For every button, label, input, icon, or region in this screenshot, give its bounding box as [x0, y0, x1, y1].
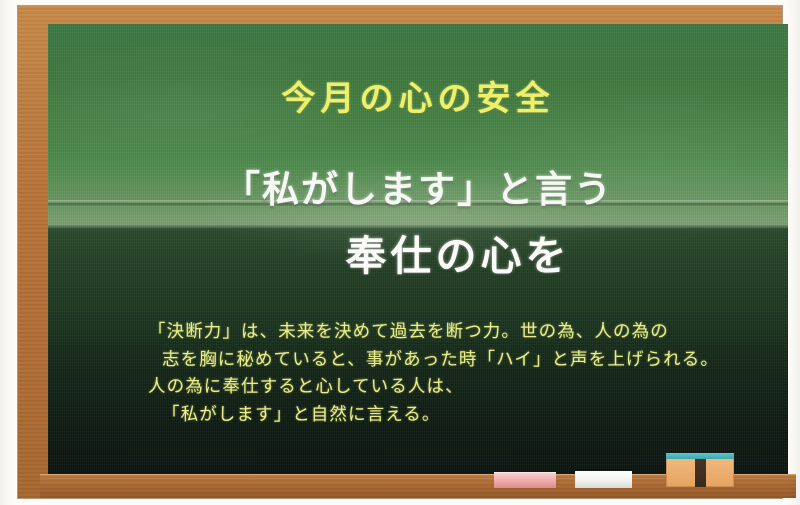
headline-line-1: 「私がします」と言う [48, 159, 788, 213]
body-line: 志を胸に秘めていると、事があった時「ハイ」と声を上げられる。 [148, 347, 768, 375]
body-line: 人の為に奉仕すると心している人は、 [148, 374, 768, 402]
headline-line-2: 奉仕の心を [48, 222, 788, 282]
eraser-center-band [695, 459, 706, 487]
chalkboard-frame: 今月の心の安全 「私がします」と言う 奉仕の心を 「決断力」は、未来を決めて過去… [18, 6, 782, 498]
chalkboard-surface: 今月の心の安全 「私がします」と言う 奉仕の心を 「決断力」は、未来を決めて過去… [48, 24, 788, 474]
body-line: 「私がします」と自然に言える。 [148, 402, 768, 430]
page-title: 今月の心の安全 [48, 71, 788, 120]
scanned-page: 今月の心の安全 「私がします」と言う 奉仕の心を 「決断力」は、未来を決めて過去… [0, 0, 800, 505]
chalk-pink [494, 472, 556, 488]
chalk-white [575, 471, 632, 488]
body-text-block: 「決断力」は、未来を決めて過去を断つ力。世の為、人の為の 志を胸に秘めていると、… [148, 319, 768, 429]
blackboard-eraser [666, 453, 734, 487]
body-line: 「決断力」は、未来を決めて過去を断つ力。世の為、人の為の [148, 319, 768, 347]
